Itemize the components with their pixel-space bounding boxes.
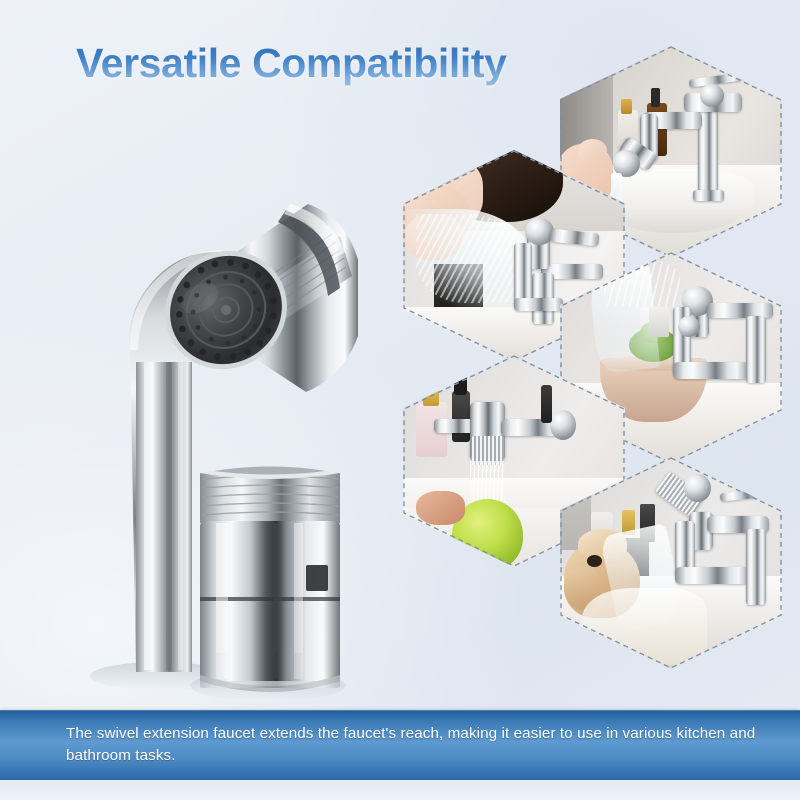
page-title: Versatile Compatibility xyxy=(76,40,507,87)
infographic-canvas: Versatile Compatibility xyxy=(0,0,800,800)
caption-bar: The swivel extension faucet extends the … xyxy=(0,710,800,780)
product-illustration xyxy=(40,100,380,700)
caption-text: The swivel extension faucet extends the … xyxy=(0,723,800,766)
bottom-strip xyxy=(0,780,800,800)
product-hero-image xyxy=(40,100,380,700)
